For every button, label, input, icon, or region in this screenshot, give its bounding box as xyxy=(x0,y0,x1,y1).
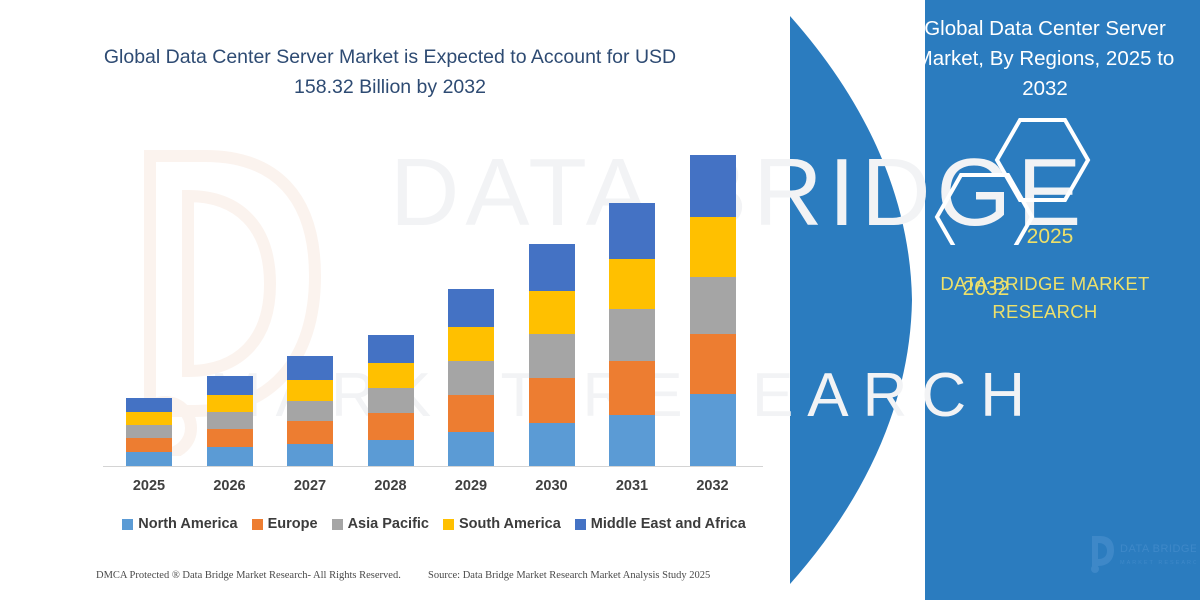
bar-segment[interactable] xyxy=(126,452,172,466)
bar-segment[interactable] xyxy=(609,203,655,259)
bar-segment[interactable] xyxy=(287,401,333,422)
bar-segment[interactable] xyxy=(609,309,655,361)
bar-segment[interactable] xyxy=(126,412,172,425)
stacked-bar[interactable] xyxy=(126,398,172,466)
bar-segment[interactable] xyxy=(448,327,494,361)
legend-label: South America xyxy=(459,516,561,532)
bar-segment[interactable] xyxy=(690,394,736,466)
bar-segment[interactable] xyxy=(126,438,172,451)
bar-segment[interactable] xyxy=(368,363,414,388)
bar-segment[interactable] xyxy=(287,356,333,379)
x-axis-line xyxy=(103,466,763,467)
bar-segment[interactable] xyxy=(529,334,575,378)
stacked-bar[interactable] xyxy=(609,203,655,466)
logo-line-1: DATA BRIDGE xyxy=(1120,543,1196,555)
stacked-bar[interactable] xyxy=(207,376,253,466)
bar-segment[interactable] xyxy=(609,259,655,309)
footer-copyright: DMCA Protected ® Data Bridge Market Rese… xyxy=(96,570,401,581)
bar-segment[interactable] xyxy=(690,155,736,217)
hexagon-shapes xyxy=(925,100,1125,245)
stacked-bar[interactable] xyxy=(368,335,414,466)
bar-segment[interactable] xyxy=(287,444,333,466)
bar-segment[interactable] xyxy=(368,440,414,466)
bar-segment[interactable] xyxy=(529,378,575,423)
hexagon-2025-outline xyxy=(997,120,1088,200)
brand-line-2: RESEARCH xyxy=(920,298,1170,326)
infographic-canvas: Global Data Center Server Market, By Reg… xyxy=(0,0,1200,600)
legend-item[interactable]: South America xyxy=(443,516,561,532)
chart-legend: North AmericaEuropeAsia PacificSouth Ame… xyxy=(104,513,764,535)
bar-segment[interactable] xyxy=(368,335,414,363)
x-axis-label: 2028 xyxy=(346,478,436,494)
bar-segment[interactable] xyxy=(448,361,494,395)
bar-segment[interactable] xyxy=(287,380,333,401)
bar-segment[interactable] xyxy=(207,395,253,412)
legend-label: North America xyxy=(138,516,237,532)
bar-segment[interactable] xyxy=(529,291,575,334)
bar-segment[interactable] xyxy=(690,334,736,394)
bar-segment[interactable] xyxy=(207,447,253,466)
x-axis-label: 2027 xyxy=(265,478,355,494)
x-axis-label: 2025 xyxy=(104,478,194,494)
bar-segment[interactable] xyxy=(448,289,494,326)
hexagon-2025-label: 2025 xyxy=(1005,225,1095,249)
logo-line-2: MARKET RESEARCH xyxy=(1120,560,1196,566)
bar-segment[interactable] xyxy=(207,376,253,395)
bar-segment[interactable] xyxy=(287,421,333,443)
legend-swatch xyxy=(122,519,133,530)
legend-swatch xyxy=(443,519,454,530)
legend-item[interactable]: Europe xyxy=(252,516,318,532)
brand-line-1: DATA BRIDGE MARKET xyxy=(920,270,1170,298)
bar-segment[interactable] xyxy=(207,429,253,447)
legend-label: Asia Pacific xyxy=(348,516,429,532)
bar-segment[interactable] xyxy=(448,395,494,431)
bar-segment[interactable] xyxy=(609,361,655,415)
data-bridge-logo: DATA BRIDGE MARKET RESEARCH xyxy=(1086,530,1196,576)
stacked-bar[interactable] xyxy=(690,155,736,466)
legend-swatch xyxy=(332,519,343,530)
bar-segment[interactable] xyxy=(126,425,172,438)
bar-segment[interactable] xyxy=(207,412,253,429)
bar-segment[interactable] xyxy=(126,398,172,413)
legend-label: Middle East and Africa xyxy=(591,516,746,532)
stacked-bar[interactable] xyxy=(448,289,494,466)
legend-item[interactable]: Asia Pacific xyxy=(332,516,429,532)
legend-item[interactable]: Middle East and Africa xyxy=(575,516,746,532)
legend-swatch xyxy=(575,519,586,530)
x-axis-label: 2032 xyxy=(668,478,758,494)
legend-swatch xyxy=(252,519,263,530)
x-axis-label: 2029 xyxy=(426,478,516,494)
panel-title: Global Data Center Server Market, By Reg… xyxy=(900,14,1190,104)
page-title: Global Data Center Server Market is Expe… xyxy=(80,42,700,102)
bar-segment[interactable] xyxy=(529,244,575,291)
bar-segment[interactable] xyxy=(690,277,736,333)
stacked-bar[interactable] xyxy=(287,356,333,466)
bar-segment[interactable] xyxy=(368,388,414,413)
legend-item[interactable]: North America xyxy=(122,516,237,532)
bar-segment[interactable] xyxy=(368,413,414,440)
bar-segment[interactable] xyxy=(448,432,494,466)
brand-name: DATA BRIDGE MARKET RESEARCH xyxy=(920,270,1170,326)
legend-label: Europe xyxy=(268,516,318,532)
stacked-bar[interactable] xyxy=(529,244,575,466)
x-axis-label: 2030 xyxy=(507,478,597,494)
footer-source: Source: Data Bridge Market Research Mark… xyxy=(428,570,710,581)
x-axis-label: 2026 xyxy=(185,478,275,494)
hexagon-badges: 2025 2032 xyxy=(925,100,1125,245)
bar-segment[interactable] xyxy=(529,423,575,466)
bar-segment[interactable] xyxy=(690,217,736,277)
x-axis-label: 2031 xyxy=(587,478,677,494)
bar-segment[interactable] xyxy=(609,415,655,466)
